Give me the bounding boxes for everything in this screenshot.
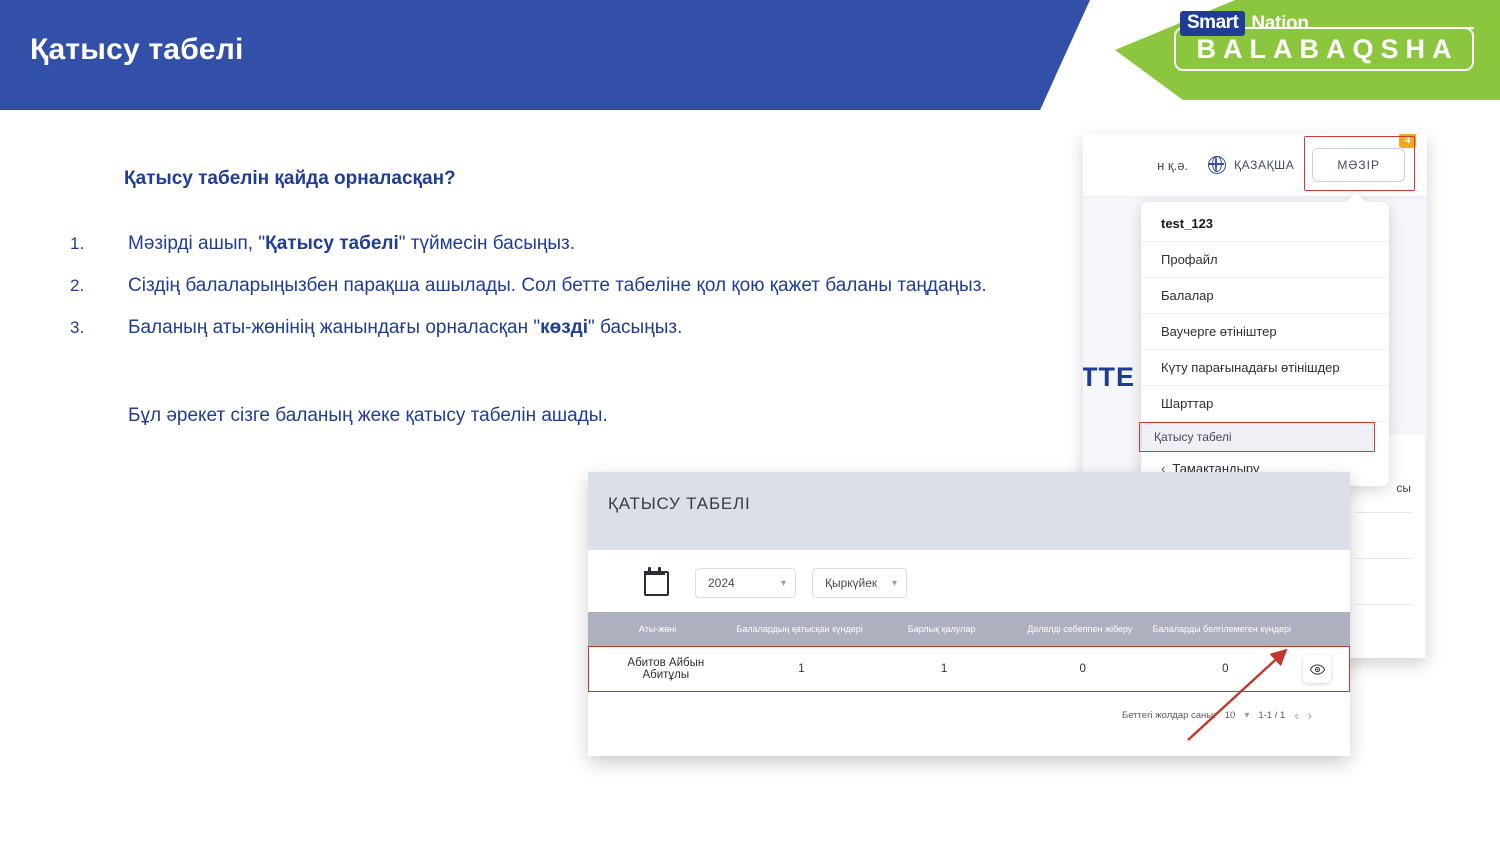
step-text-post: " басыңыз.	[588, 317, 682, 338]
logo-balabaqsha-text: BALABAQSHA	[1180, 36, 1468, 63]
step-text-pre: Баланың аты-жөнінің жанындағы орналасқан…	[128, 317, 540, 338]
step-text-bold: көзді	[540, 317, 588, 338]
page-title: Қатысу табелі	[30, 33, 244, 67]
menu-item-voucher-applications[interactable]: Ваучерге өтініштер	[1141, 314, 1389, 350]
menu-item-contracts[interactable]: Шарттар	[1141, 386, 1389, 422]
column-header-unmarked: Балаларды белгілемеген күндері	[1148, 624, 1295, 635]
step-number: 3.	[60, 309, 128, 347]
menu-item-attendance-sheet-label: Қатысу табелі	[1154, 430, 1232, 444]
filter-bar: 2024 ▾ Қыркүйек ▾	[588, 550, 1350, 598]
year-select-value: 2024	[708, 576, 735, 590]
step-text-post: " түймесін басыңыз.	[399, 233, 575, 254]
menu-button[interactable]: МӘЗІР	[1312, 148, 1405, 182]
chevron-down-icon: ▾	[892, 578, 897, 589]
background-card-divider	[1355, 604, 1413, 605]
background-heading-partial: ТТЕ	[1083, 362, 1135, 393]
annotation-arrow	[1180, 640, 1310, 750]
menu-item-profile[interactable]: Профайл	[1141, 242, 1389, 278]
menu-badge-count: 4	[1399, 134, 1416, 148]
background-card-divider	[1355, 558, 1413, 559]
cell-excused-absences: 0	[1014, 663, 1152, 675]
topbar-partial-text: н қ.ә.	[1157, 158, 1188, 173]
eye-icon	[1310, 664, 1325, 675]
column-header-all-absences: Барлық қалулар	[872, 624, 1011, 635]
step-text-pre: Мәзірді ашып, "	[128, 233, 265, 254]
month-select[interactable]: Қыркүйек ▾	[812, 568, 907, 598]
background-card-text: сы	[1396, 481, 1411, 495]
closing-note: Бұл әрекет сізге баланың жеке қатысу таб…	[128, 405, 608, 427]
background-card-divider	[1355, 512, 1413, 513]
step-text-pre: Сіздің балаларыңызбен парақша ашылады. С…	[128, 275, 987, 296]
lead-question: Қатысу табелін қайда орналасқан?	[124, 168, 456, 190]
menu-item-children[interactable]: Балалар	[1141, 278, 1389, 314]
step-text: Мәзірді ашып, "Қатысу табелі" түймесін б…	[128, 225, 990, 263]
step-text: Баланың аты-жөнінің жанындағы орналасқан…	[128, 309, 990, 347]
step-number: 1.	[60, 225, 128, 263]
language-switcher-label[interactable]: ҚАЗАҚША	[1234, 158, 1294, 172]
step-text-bold: Қатысу табелі	[265, 233, 399, 254]
chevron-down-icon: ▾	[781, 578, 786, 589]
logo-nation-text: Nation	[1251, 13, 1308, 35]
column-header-name: Аты-жөні	[588, 624, 727, 635]
list-item: 1. Мәзірді ашып, "Қатысу табелі" түймесі…	[60, 225, 990, 263]
logo-balabaqsha-box: BALABAQSHA	[1174, 27, 1474, 71]
month-select-value: Қыркүйек	[825, 576, 877, 590]
cell-all-absences: 1	[874, 663, 1014, 675]
globe-icon	[1208, 156, 1226, 174]
menu-button-wrapper: МӘЗІР 4	[1312, 148, 1405, 182]
column-header-attended: Балалардың қатысқан күндері	[727, 624, 872, 635]
panel-header: ҚАТЫСУ ТАБЕЛІ	[588, 472, 1350, 550]
steps-list: 1. Мәзірді ашып, "Қатысу табелі" түймесі…	[60, 225, 990, 351]
step-number: 2.	[60, 267, 128, 305]
cell-child-name: Абитов Айбын Абитұлы	[589, 657, 729, 681]
menu-item-account[interactable]: test_123	[1141, 206, 1389, 242]
list-item: 2. Сіздің балаларыңызбен парақша ашылады…	[60, 267, 990, 305]
column-header-excused: Дәлелді себеппен жіберу	[1011, 624, 1148, 635]
user-menu-dropdown: test_123 Профайл Балалар Ваучерге өтініш…	[1141, 202, 1389, 486]
list-item: 3. Баланың аты-жөнінің жанындағы орналас…	[60, 309, 990, 347]
menu-item-attendance-sheet[interactable]: Қатысу табелі	[1141, 422, 1373, 451]
site-topbar: н қ.ә. ҚАЗАҚША МӘЗІР 4	[1083, 134, 1427, 196]
calendar-icon	[644, 571, 669, 596]
panel-title: ҚАТЫСУ ТАБЕЛІ	[588, 472, 1350, 514]
cell-attended-days: 1	[729, 663, 875, 675]
logo-smart-text: Smart	[1180, 11, 1245, 36]
step-text: Сіздің балаларыңызбен парақша ашылады. С…	[128, 267, 990, 305]
year-select[interactable]: 2024 ▾	[695, 568, 796, 598]
brand-logo: Smart Nation BALABAQSHA	[1174, 11, 1474, 71]
menu-item-waitlist-applications[interactable]: Күту парағынадағы өтінішдер	[1141, 350, 1389, 386]
logo-divider	[1314, 27, 1474, 29]
